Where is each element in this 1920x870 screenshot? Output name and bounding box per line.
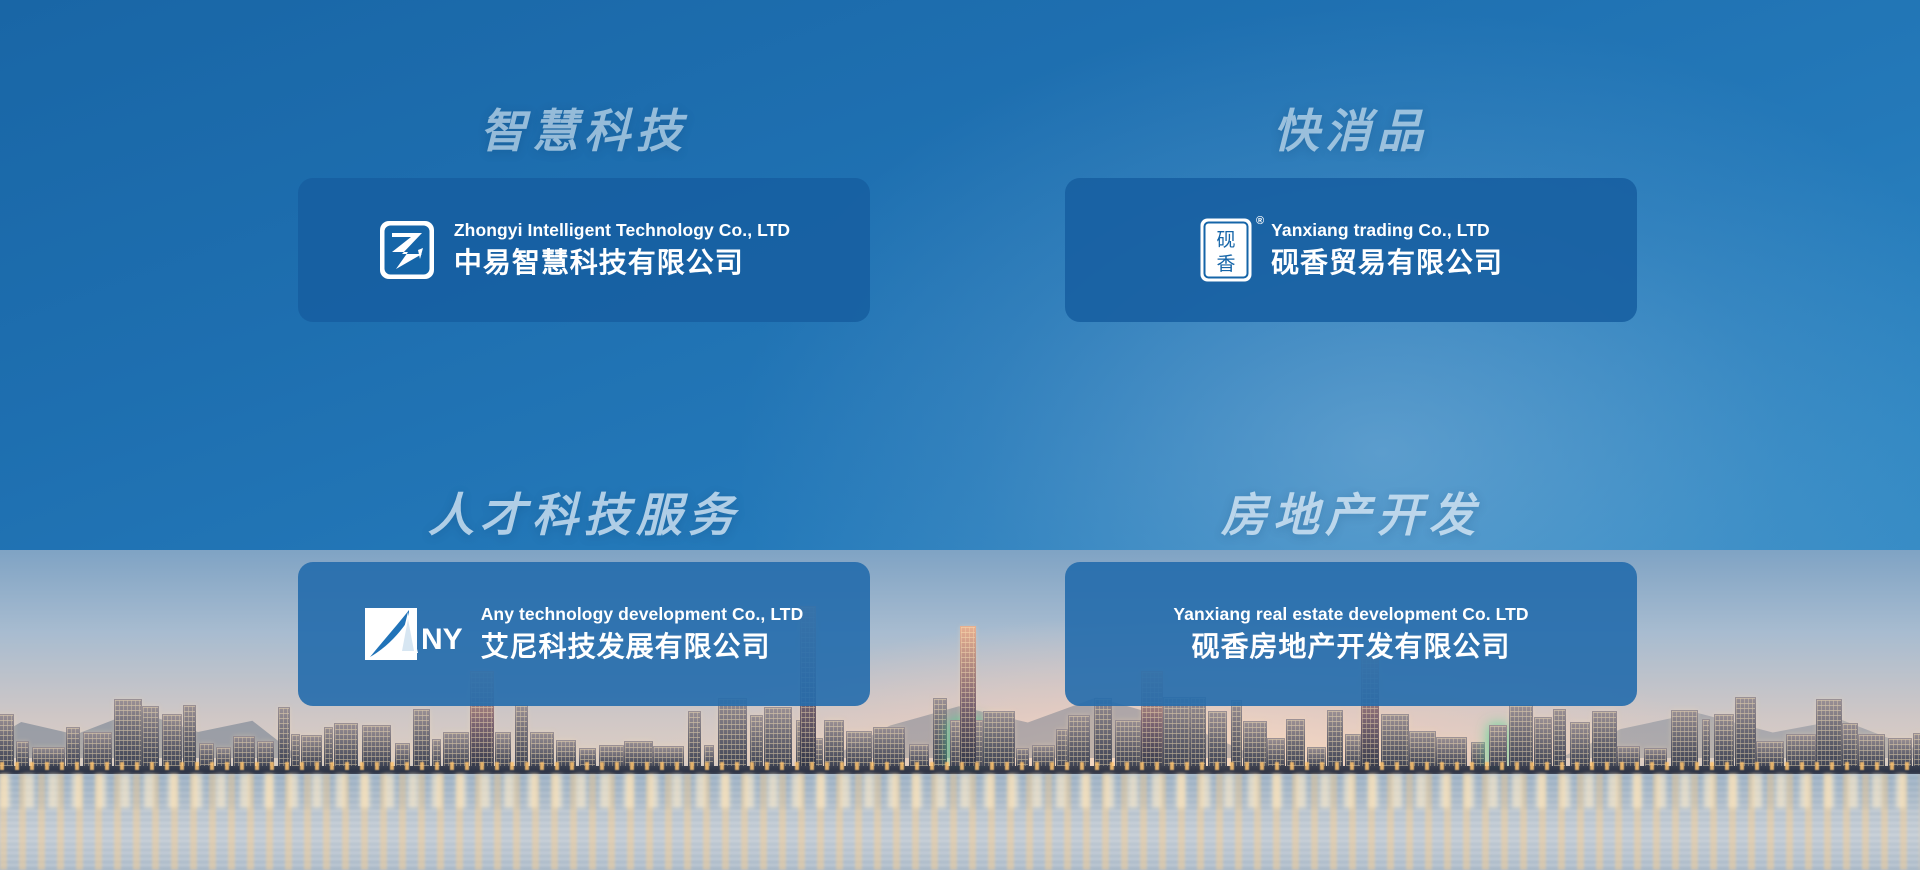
company-card[interactable]: 砚 香 ® Yanxiang trading Co., LTD 砚香贸易有限公司	[1065, 178, 1637, 322]
company-card[interactable]: NY Any technology development Co., LTD 艾…	[298, 562, 870, 706]
company-card[interactable]: Yanxiang real estate development Co. LTD…	[1065, 562, 1637, 706]
sector-heading: 智慧科技	[298, 108, 870, 154]
zhongyi-z-logo	[378, 219, 436, 281]
company-card[interactable]: Zhongyi Intelligent Technology Co., LTD …	[298, 178, 870, 322]
sector-real-estate: 房地产开发 Yanxiang real estate development C…	[1065, 492, 1637, 706]
svg-text:砚: 砚	[1217, 229, 1236, 251]
svg-text:香: 香	[1217, 253, 1236, 275]
company-names: Yanxiang real estate development Co. LTD…	[1173, 604, 1528, 665]
company-name-cn: 砚香贸易有限公司	[1271, 245, 1503, 281]
any-mountain-logo: NY	[365, 607, 463, 661]
sector-heading: 人才科技服务	[298, 492, 870, 538]
company-names: Yanxiang trading Co., LTD 砚香贸易有限公司	[1271, 220, 1503, 281]
company-name-cn: 中易智慧科技有限公司	[454, 245, 790, 281]
company-name-cn: 艾尼科技发展有限公司	[481, 629, 804, 665]
company-name-en: Yanxiang real estate development Co. LTD	[1173, 604, 1528, 626]
yanxiang-seal-logo: 砚 香 ®	[1199, 217, 1253, 283]
svg-text:NY: NY	[421, 623, 463, 656]
registered-trademark-icon: ®	[1256, 215, 1264, 227]
page-root: 智慧科技 Zhongyi Intelligent Technology Co.,…	[0, 0, 1920, 870]
sector-smart-technology: 智慧科技 Zhongyi Intelligent Technology Co.,…	[298, 108, 870, 322]
sector-grid: 智慧科技 Zhongyi Intelligent Technology Co.,…	[0, 0, 1920, 870]
sector-fmcg: 快消品 砚 香 ® Yanxiang trading Co., LTD	[1065, 108, 1637, 322]
company-name-cn: 砚香房地产开发有限公司	[1192, 629, 1511, 665]
sector-heading: 房地产开发	[1065, 492, 1637, 538]
company-names: Any technology development Co., LTD 艾尼科技…	[481, 604, 804, 665]
company-name-en: Any technology development Co., LTD	[481, 604, 804, 626]
company-names: Zhongyi Intelligent Technology Co., LTD …	[454, 220, 790, 281]
sector-talent-services: 人才科技服务 NY Any technology	[298, 492, 870, 706]
sector-heading: 快消品	[1065, 108, 1637, 154]
company-name-en: Yanxiang trading Co., LTD	[1271, 220, 1503, 242]
company-name-en: Zhongyi Intelligent Technology Co., LTD	[454, 220, 790, 242]
